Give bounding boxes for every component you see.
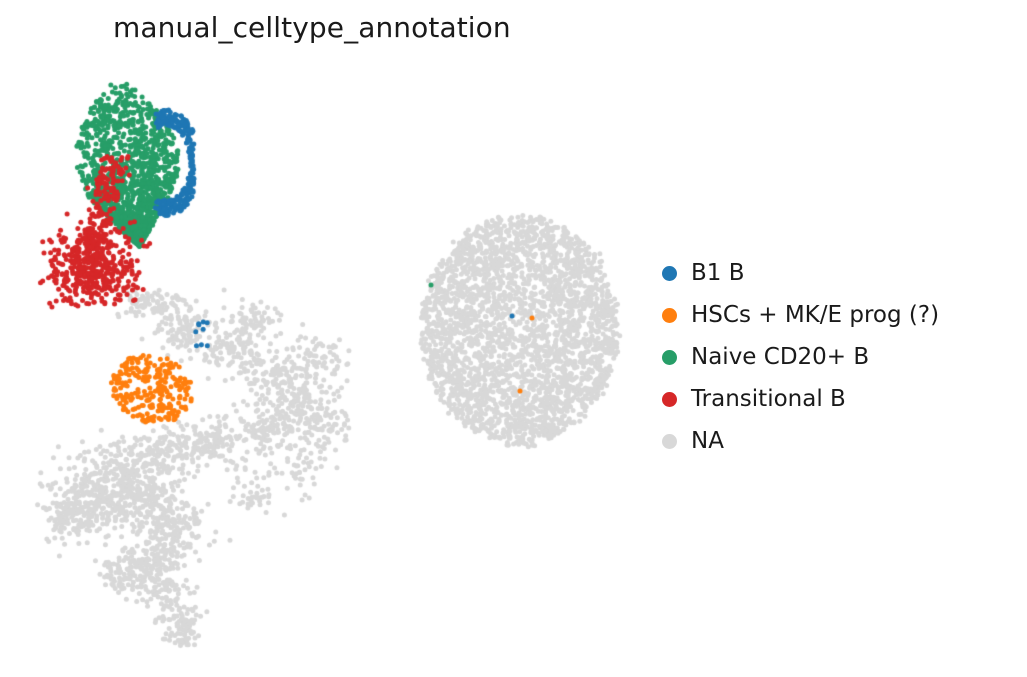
legend-marker-icon [662, 392, 677, 407]
legend-marker-icon [662, 350, 677, 365]
legend-item-label: B1 B [691, 262, 745, 285]
legend-marker-icon [662, 266, 677, 281]
legend: B1 B HSCs + MK/E prog (?) Naive CD20+ B … [662, 252, 1022, 462]
legend-item-label: NA [691, 430, 724, 453]
legend-marker-icon [662, 308, 677, 323]
umap-figure: manual_celltype_annotation B1 B HSCs + M… [0, 0, 1027, 677]
legend-item-b1-b[interactable]: B1 B [662, 252, 1022, 294]
legend-marker-icon [662, 434, 677, 449]
legend-item-hscs-mke-prog[interactable]: HSCs + MK/E prog (?) [662, 294, 1022, 336]
legend-item-label: HSCs + MK/E prog (?) [691, 304, 939, 327]
legend-item-transitional-b[interactable]: Transitional B [662, 378, 1022, 420]
legend-item-na[interactable]: NA [662, 420, 1022, 462]
legend-item-label: Transitional B [691, 388, 846, 411]
legend-item-naive-cd20-b[interactable]: Naive CD20+ B [662, 336, 1022, 378]
legend-item-label: Naive CD20+ B [691, 346, 869, 369]
